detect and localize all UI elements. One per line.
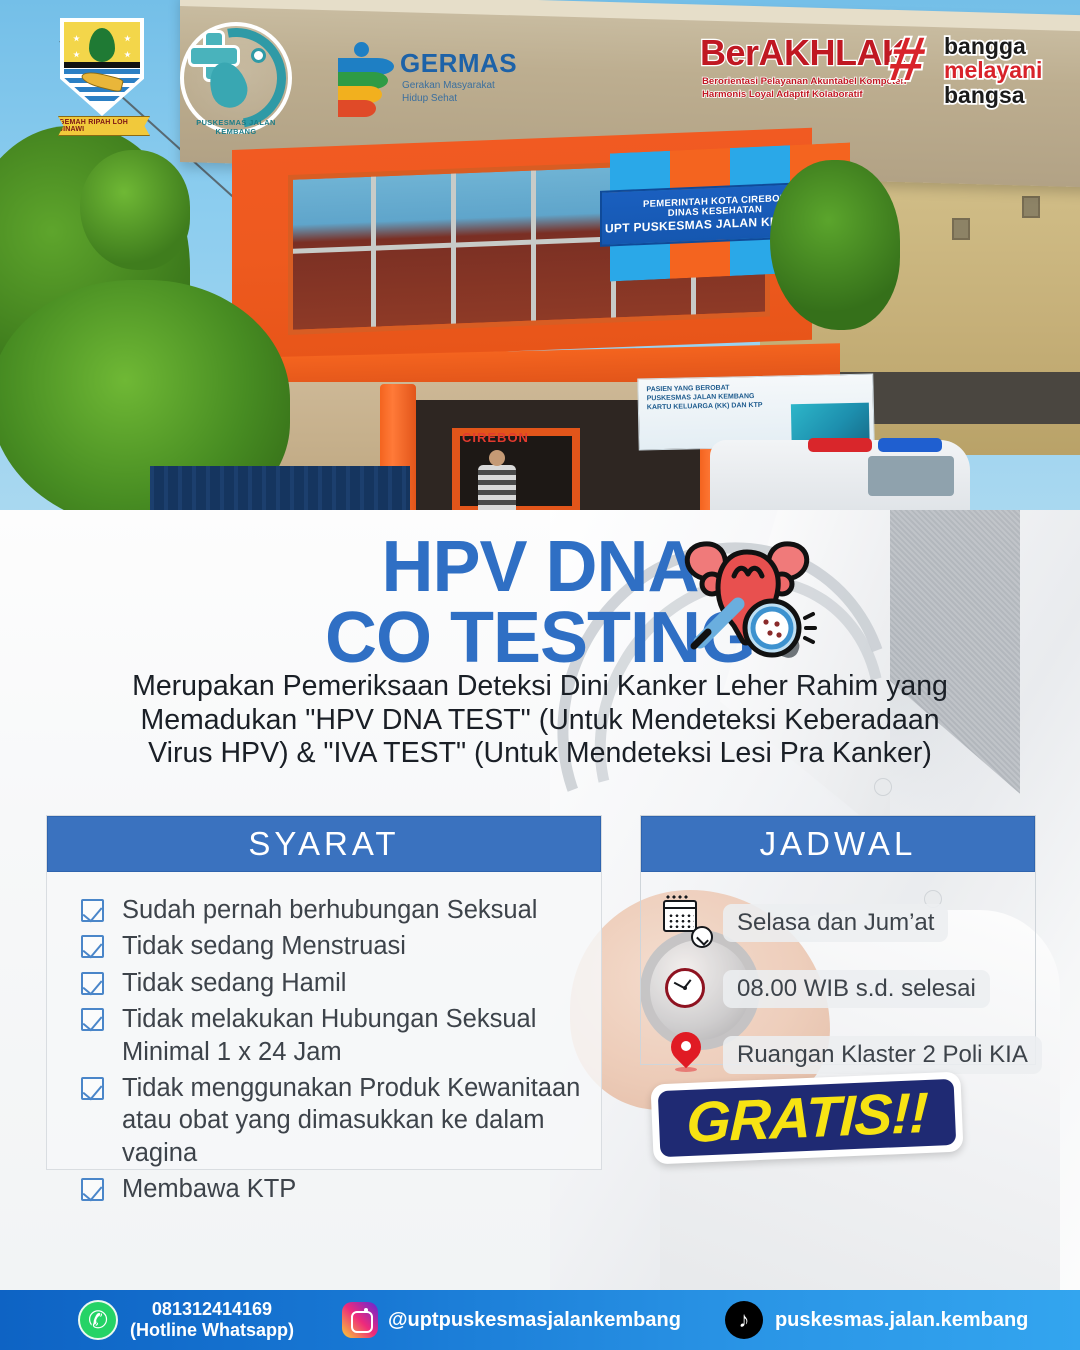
foliage — [770, 160, 900, 330]
door-sign-text: CIREBON — [462, 430, 529, 445]
logo-row: GEMAH RIPAH LOH JINAWI PUSKESMAS JALAN K… — [0, 0, 1080, 145]
checkbox-checked-icon — [81, 1178, 104, 1201]
syarat-panel: SYARAT Sudah pernah berhubungan Seksual … — [46, 815, 602, 1170]
clock-icon — [659, 964, 713, 1014]
syarat-item-text: Tidak sedang Hamil — [122, 967, 346, 999]
instagram-contact[interactable]: @uptpuskesmasjalankembang — [294, 1302, 681, 1338]
checkbox-checked-icon — [81, 899, 104, 922]
title-line-1: HPV DNA — [381, 527, 698, 607]
whatsapp-label: (Hotline Whatsapp) — [130, 1320, 294, 1341]
window-mullion — [451, 174, 456, 324]
list-item: Ruangan Klaster 2 Poli KIA — [659, 1030, 1035, 1080]
list-item: 08.00 WIB s.d. selesai — [659, 964, 1035, 1014]
checkbox-checked-icon — [81, 1008, 104, 1031]
ambulance-light-blue — [878, 438, 942, 452]
germas-subtitle-1: Gerakan Masyarakat — [402, 80, 495, 93]
berakhlak-subtitle-2: Harmonis Loyal Adaptif Kolaboratif — [702, 89, 906, 102]
contact-footer: 081312414169 (Hotline Whatsapp) @uptpusk… — [0, 1290, 1080, 1350]
ambulance-window — [868, 456, 954, 496]
syarat-list: Sudah pernah berhubungan Seksual Tidak s… — [47, 872, 601, 1205]
berakhlak-wordmark: BerAKHLAK — [700, 32, 908, 74]
gratis-badge: GRATIS!! — [652, 1078, 962, 1158]
list-item: Selasa dan Jum’at — [659, 898, 1035, 948]
gratis-badge-text: GRATIS!! — [651, 1071, 963, 1164]
front-gate — [150, 466, 410, 512]
list-item: Tidak menggunakan Produk Kewanitaan atau… — [81, 1072, 601, 1169]
list-item: Tidak sedang Hamil — [81, 967, 601, 999]
crest-leaf-icon — [89, 28, 115, 62]
instagram-icon[interactable] — [342, 1302, 378, 1338]
wall-vent — [952, 218, 970, 240]
ambulance-light-red — [808, 438, 872, 452]
description-line-1: Merupakan Pemeriksaan Deteksi Dini Kanke… — [90, 670, 990, 704]
germas-logo: GERMAS Gerakan Masyarakat Hidup Sehat — [336, 42, 516, 128]
bangga-melayani-bangsa-wordmark: bangga melayani bangsa — [944, 34, 1042, 107]
jadwal-day-text: Selasa dan Jum’at — [723, 904, 948, 942]
checkbox-checked-icon — [81, 935, 104, 958]
bangga-line-2: melayani — [944, 58, 1042, 82]
jadwal-list: Selasa dan Jum’at 08.00 WIB s.d. selesai — [641, 872, 1035, 1080]
germas-title-text: GERMAS — [400, 48, 517, 79]
uterus-speculum-icon — [672, 532, 822, 660]
tiktok-icon[interactable] — [725, 1301, 763, 1339]
window-mullion — [371, 177, 376, 327]
puskesmas-logo-text: PUSKESMAS JALAN KEMBANG — [180, 118, 292, 136]
tiktok-handle: puskesmas.jalan.kembang — [775, 1309, 1028, 1332]
hashtag-icon: # — [886, 34, 928, 87]
description-line-3: Virus HPV) & "IVA TEST" (Untuk Mendeteks… — [90, 737, 990, 771]
location-pin-icon — [659, 1030, 713, 1080]
jadwal-location-text: Ruangan Klaster 2 Poli KIA — [723, 1036, 1042, 1074]
checkbox-checked-icon — [81, 972, 104, 995]
instagram-handle: @uptpuskesmasjalankembang — [388, 1309, 681, 1332]
poster-title-block: HPV DNA CO TESTING — [0, 532, 1080, 673]
list-item: Membawa KTP — [81, 1173, 601, 1205]
calendar-clock-icon — [659, 898, 713, 948]
jadwal-time-text: 08.00 WIB s.d. selesai — [723, 970, 990, 1008]
whatsapp-contact[interactable]: 081312414169 (Hotline Whatsapp) — [0, 1299, 294, 1341]
jadwal-heading: JADWAL — [760, 825, 917, 863]
description-text: Merupakan Pemeriksaan Deteksi Dini Kanke… — [90, 670, 990, 771]
crest-motto-text: GEMAH RIPAH LOH JINAWI — [59, 119, 149, 133]
syarat-heading: SYARAT — [248, 825, 399, 863]
crest-motto-ribbon: GEMAH RIPAH LOH JINAWI — [58, 116, 150, 136]
berakhlak-logo: BerAKHLAK Berorientasi Pelayanan Akuntab… — [700, 28, 1060, 118]
wall-vent — [1022, 196, 1040, 218]
bangga-line-3: bangsa — [944, 82, 1025, 108]
checkbox-checked-icon — [81, 1077, 104, 1100]
banner-graphic — [791, 403, 870, 443]
list-item: Tidak melakukan Hubungan Seksual Minimal… — [81, 1003, 601, 1068]
list-item: Tidak sedang Menstruasi — [81, 930, 601, 962]
whatsapp-number: 081312414169 — [130, 1299, 294, 1320]
syarat-item-text: Tidak menggunakan Produk Kewanitaan atau… — [122, 1072, 592, 1169]
germas-figure-icon — [336, 42, 398, 124]
foliage — [80, 150, 190, 270]
syarat-panel-header: SYARAT — [47, 816, 601, 872]
poster-root: PEMERINTAH KOTA CIREBON DINAS KESEHATAN … — [0, 0, 1080, 1350]
jadwal-panel: JADWAL Selasa dan Jum’at — [640, 815, 1036, 1065]
syarat-item-text: Sudah pernah berhubungan Seksual — [122, 894, 537, 926]
description-line-2: Memadukan "HPV DNA TEST" (Untuk Mendetek… — [90, 704, 990, 738]
whatsapp-icon[interactable] — [78, 1300, 118, 1340]
syarat-item-text: Tidak melakukan Hubungan Seksual Minimal… — [122, 1003, 552, 1068]
visitor-figure — [478, 450, 516, 512]
figure-head-icon — [251, 48, 266, 63]
syarat-item-text: Tidak sedang Menstruasi — [122, 930, 406, 962]
jadwal-panel-header: JADWAL — [641, 816, 1035, 872]
window-mullion — [531, 170, 536, 320]
list-item: Sudah pernah berhubungan Seksual — [81, 894, 601, 926]
tiktok-contact[interactable]: puskesmas.jalan.kembang — [681, 1301, 1028, 1339]
germas-subtitle-2: Hidup Sehat — [402, 93, 495, 106]
puskesmas-jalan-kembang-logo: PUSKESMAS JALAN KEMBANG — [180, 22, 292, 134]
syarat-item-text: Membawa KTP — [122, 1173, 296, 1205]
cirebon-city-crest-logo: GEMAH RIPAH LOH JINAWI — [60, 18, 150, 136]
berakhlak-subtitle-1: Berorientasi Pelayanan Akuntabel Kompete… — [702, 76, 906, 89]
main-content-area: HPV DNA CO TESTING — [0, 510, 1080, 1290]
bangga-line-1: bangga — [944, 33, 1026, 59]
